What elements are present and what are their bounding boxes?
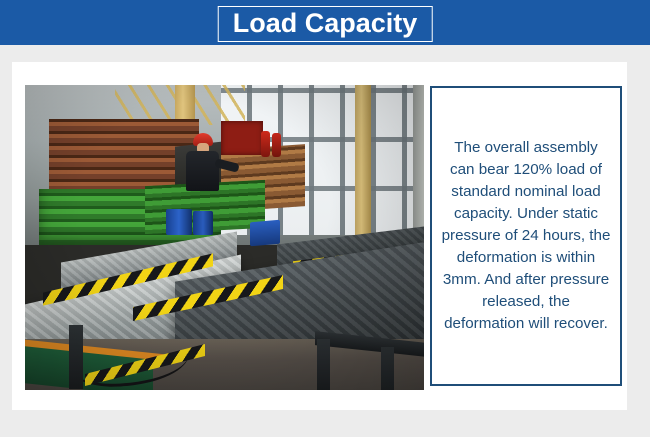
worker-body (186, 151, 219, 191)
blue-drum-second (193, 211, 213, 235)
fire-extinguisher-icon (261, 131, 270, 157)
product-photo (25, 85, 424, 390)
base-frame-leg (317, 339, 330, 390)
description-box: The overall assembly can bear 120% load … (430, 86, 622, 386)
base-frame-leg (69, 325, 83, 389)
column-far-right (413, 85, 424, 235)
title-box: Load Capacity (218, 6, 433, 42)
description-text: The overall assembly can bear 120% load … (441, 137, 611, 335)
blue-drum (166, 209, 192, 235)
product-feature-banner: Load Capacity (0, 0, 650, 437)
photo-scene (25, 85, 424, 390)
blue-toolbox (250, 220, 280, 247)
header-bar: Load Capacity (0, 0, 650, 45)
page-title: Load Capacity (233, 8, 418, 38)
base-frame-leg (381, 347, 394, 390)
column-right (355, 85, 371, 235)
wall-panel-red (221, 121, 263, 155)
fire-extinguisher-icon (272, 133, 281, 157)
